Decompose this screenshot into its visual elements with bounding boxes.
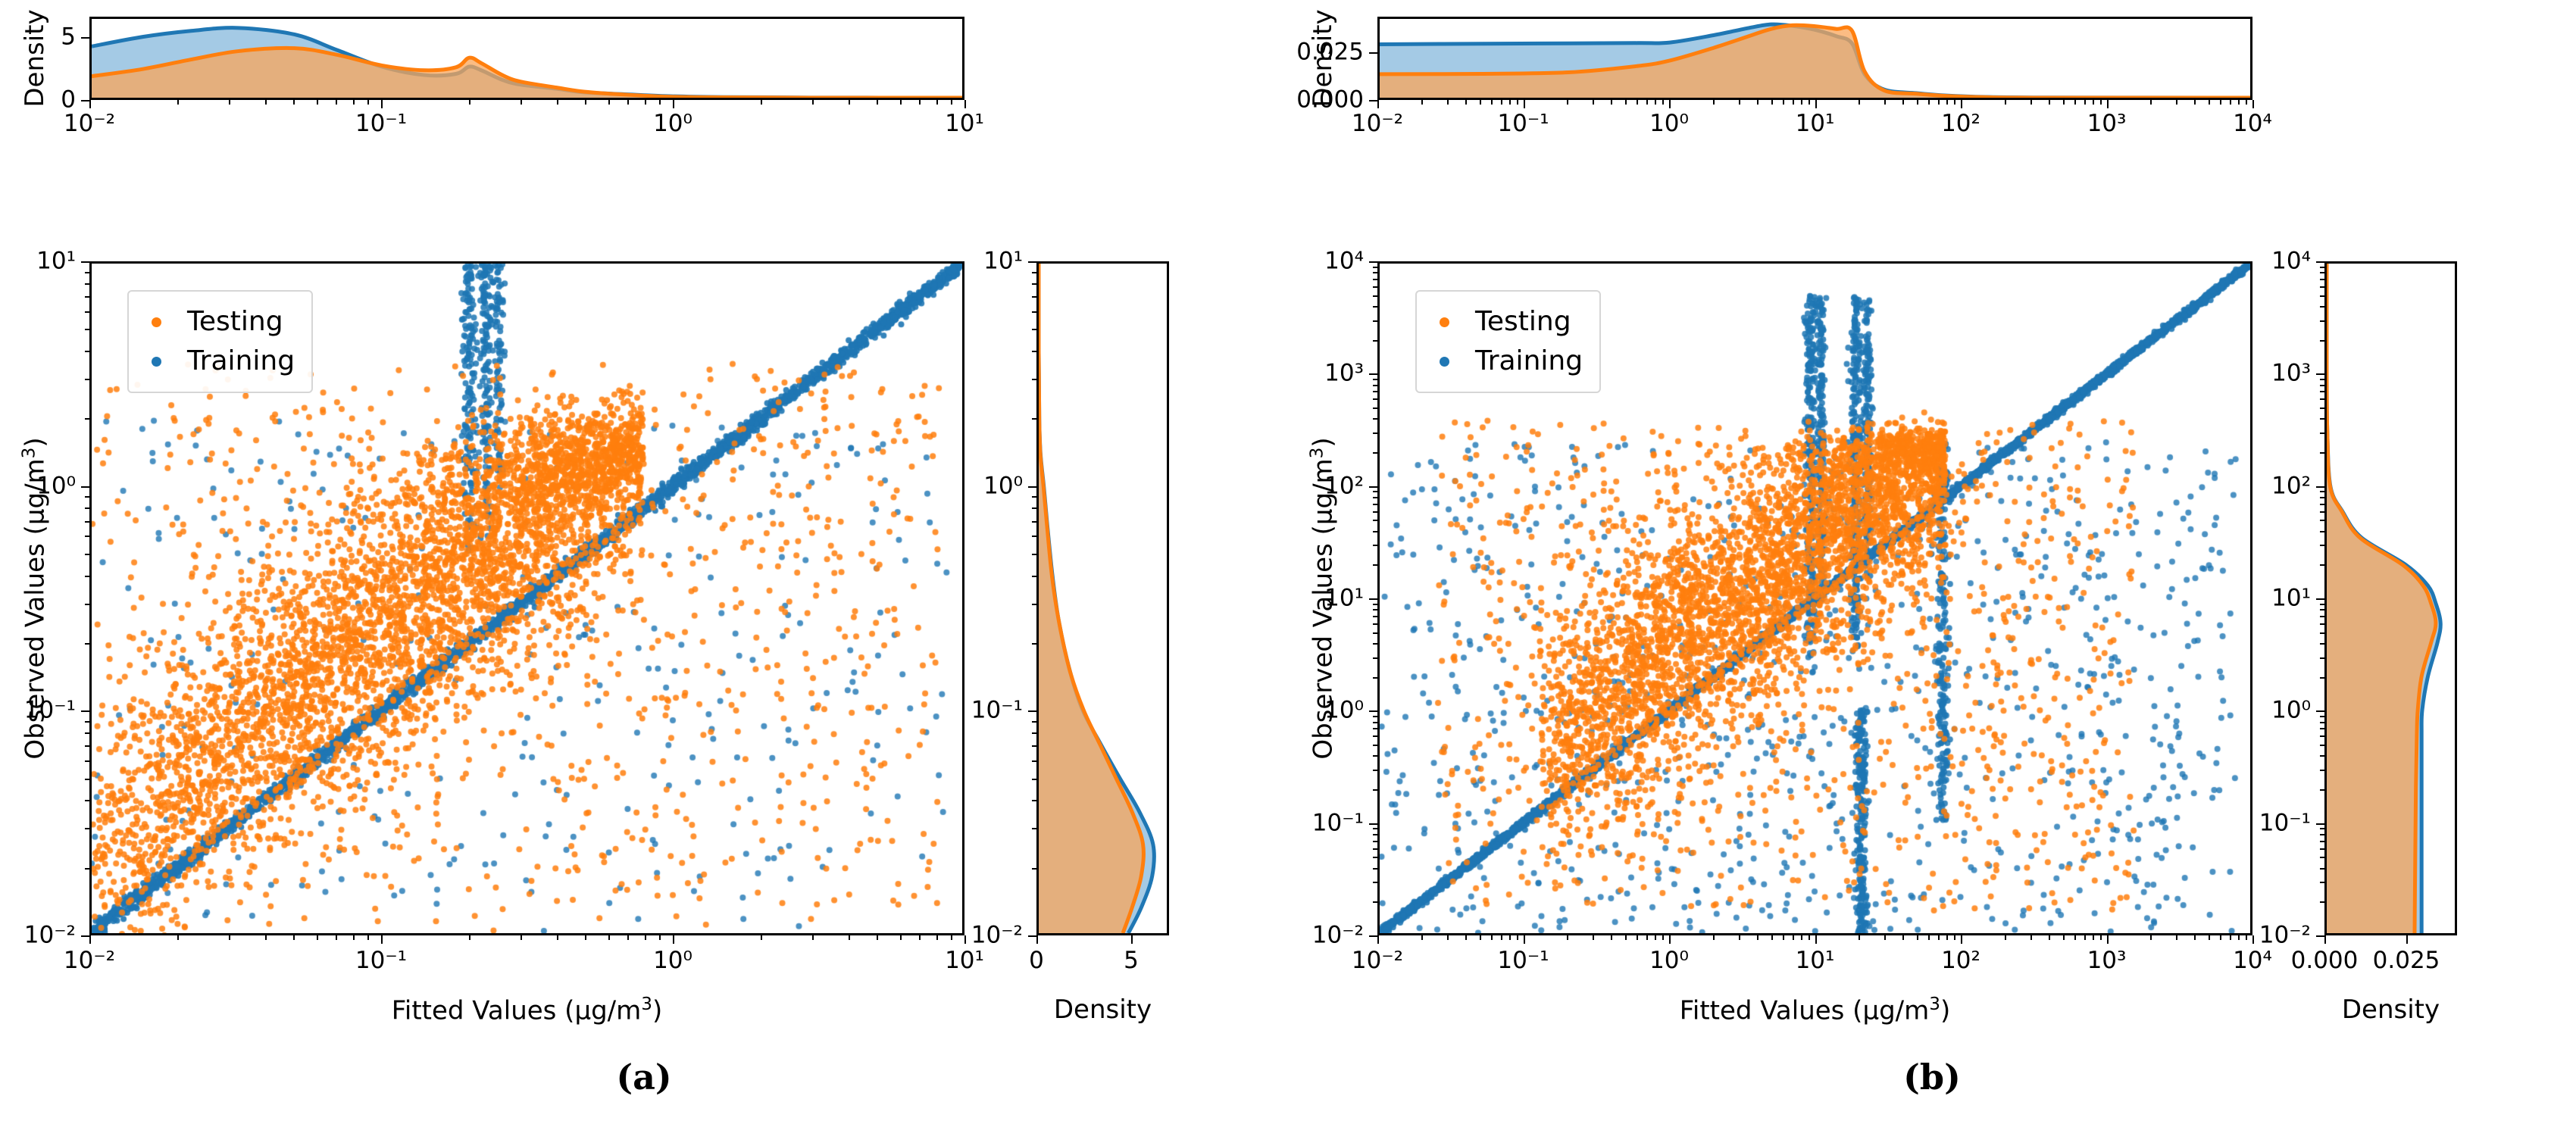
top-x-tick-minor <box>1480 100 1481 105</box>
top-x-tick-minor <box>1517 100 1518 105</box>
x-tick-minor <box>900 935 902 940</box>
top-x-tick-minor <box>293 100 295 105</box>
x-tick-minor <box>521 935 522 940</box>
x-tick-major <box>2252 935 2254 944</box>
top-x-tick-minor <box>2176 100 2177 105</box>
right-y-tick-minor <box>1032 329 1036 330</box>
top-x-tick-minor <box>1771 100 1773 105</box>
right-y-tick-label: 10⁻² <box>971 924 1023 948</box>
top-kde-area-testing <box>92 48 962 98</box>
top-x-tick-minor <box>317 100 318 105</box>
x-tick-label: 10⁻² <box>1352 949 1403 973</box>
right-y-tick-major <box>2316 486 2324 488</box>
x-tick-minor <box>877 935 878 940</box>
x-tick-major <box>1961 935 1962 944</box>
right-y-tick-minor <box>2320 789 2324 791</box>
right-y-tick-minor <box>2320 728 2324 729</box>
y-tick-minor <box>1373 408 1377 409</box>
y-tick-minor <box>85 779 89 780</box>
x-tick-minor <box>1491 935 1493 940</box>
x-tick-minor <box>1713 935 1715 940</box>
right-y-tick-major <box>2316 935 2324 937</box>
top-x-tick-major <box>2107 100 2109 108</box>
right-y-tick-label: 10⁻² <box>2259 924 2311 948</box>
top-x-tick-major <box>1961 100 1962 108</box>
x-tick-minor <box>2100 935 2102 940</box>
top-x-tick-major <box>381 100 383 108</box>
right-x-tick-major <box>2324 935 2326 944</box>
top-x-tick-label: 10³ <box>2087 112 2127 136</box>
right-y-tick-minor <box>2320 504 2324 505</box>
y-tick-minor <box>1373 497 1377 498</box>
top-x-tick-minor <box>521 100 522 105</box>
x-tick-minor <box>1938 935 1940 940</box>
x-tick-minor <box>1611 935 1612 940</box>
y-tick-minor <box>1373 398 1377 400</box>
y-tick-minor <box>1373 520 1377 521</box>
right-kde-svg <box>1039 264 1167 933</box>
right-y-tick-major <box>2316 261 2324 263</box>
right-y-tick-minor <box>2320 520 2324 521</box>
y-tick-label: 10⁻¹ <box>1312 811 1364 835</box>
x-tick-major <box>673 935 674 944</box>
top-x-tick-minor <box>353 100 355 105</box>
right-y-tick-minor <box>1032 828 1036 829</box>
x-tick-label: 10³ <box>2087 949 2127 973</box>
right-y-tick-minor <box>2320 868 2324 870</box>
legend-item-testing[interactable]: Testing <box>1429 302 1583 342</box>
y-tick-minor <box>1373 432 1377 434</box>
x-tick-minor <box>1625 935 1627 940</box>
y-tick-minor <box>1373 716 1377 717</box>
top-x-tick-minor <box>585 100 586 105</box>
x-tick-minor <box>1593 935 1594 940</box>
top-x-tick-label: 10¹ <box>1796 112 1835 136</box>
top-x-tick-minor <box>2093 100 2094 105</box>
top-x-tick-label: 10¹ <box>945 112 984 136</box>
top-x-tick-minor <box>1611 100 1612 105</box>
right-y-tick-label: 10⁴ <box>2271 250 2311 273</box>
x-tick-minor <box>1567 935 1568 940</box>
y-tick-label: 10⁻² <box>24 924 76 948</box>
x-tick-minor <box>1902 935 1904 940</box>
right-y-tick-minor <box>2320 716 2324 717</box>
right-y-tick-minor <box>1032 521 1036 523</box>
top-x-tick-minor <box>1917 100 1918 105</box>
y-tick-minor <box>1373 834 1377 835</box>
top-kde-svg <box>92 19 962 98</box>
top-x-tick-minor <box>1491 100 1493 105</box>
top-x-tick-label: 10⁻² <box>64 112 115 136</box>
y-tick-minor <box>1373 868 1377 870</box>
y-tick-minor <box>85 576 89 577</box>
x-axis-label: Fitted Values (μg/m3) <box>1680 995 1950 1026</box>
top-x-tick-minor <box>1655 100 1656 105</box>
x-tick-minor <box>353 935 355 940</box>
top-x-tick-minor <box>1859 100 1860 105</box>
right-y-tick-label: 10⁻¹ <box>2259 811 2311 835</box>
top-y-tick-major <box>1369 52 1377 54</box>
right-y-tick-minor <box>1032 418 1036 420</box>
y-tick-minor <box>1373 511 1377 513</box>
top-x-tick-minor <box>761 100 762 105</box>
legend-marker-training <box>1440 357 1449 367</box>
y-tick-minor <box>1373 828 1377 829</box>
right-y-tick-minor <box>1032 283 1036 285</box>
right-y-tick-minor <box>2320 677 2324 679</box>
top-x-tick-minor <box>265 100 267 105</box>
top-x-tick-major <box>673 100 674 108</box>
top-x-tick-minor <box>2074 100 2076 105</box>
y-tick-minor <box>85 418 89 420</box>
y-axis-label: Observed Values (μg/m3) <box>19 437 50 759</box>
y-tick-minor <box>1373 545 1377 546</box>
right-y-tick-minor <box>2320 848 2324 850</box>
y-tick-minor <box>85 745 89 747</box>
top-x-tick-major <box>1377 100 1379 108</box>
y-tick-minor <box>85 828 89 829</box>
y-tick-major <box>81 261 89 263</box>
x-tick-minor <box>1928 935 1930 940</box>
x-tick-minor <box>1946 935 1948 940</box>
y-tick-major <box>1369 261 1377 263</box>
y-tick-minor <box>85 496 89 498</box>
x-tick-minor <box>2220 935 2221 940</box>
right-y-tick-minor <box>2320 901 2324 903</box>
right-y-tick-minor <box>1032 507 1036 509</box>
x-tick-minor <box>659 935 661 940</box>
legend-item-training[interactable]: Training <box>1429 342 1583 381</box>
right-y-tick-minor <box>2320 623 2324 625</box>
right-y-tick-minor <box>2320 841 2324 842</box>
x-tick-minor <box>1884 935 1886 940</box>
x-tick-minor <box>951 935 952 940</box>
x-tick-minor <box>1662 935 1664 940</box>
y-tick-minor <box>85 732 89 734</box>
right-x-tick-major <box>2406 935 2408 944</box>
top-x-tick-label: 10⁰ <box>1649 112 1689 136</box>
top-y-tick-label: 0 <box>61 89 76 112</box>
x-tick-minor <box>1783 935 1784 940</box>
top-x-tick-label: 10² <box>1941 112 1980 136</box>
right-y-tick-minor <box>2320 267 2324 268</box>
y-tick-major <box>1369 710 1377 712</box>
right-y-tick-minor <box>1032 745 1036 747</box>
right-y-tick-label: 10¹ <box>2271 587 2311 610</box>
top-x-tick-major <box>2252 100 2254 108</box>
right-density-axis-label: Density <box>2342 995 2440 1025</box>
right-y-tick-minor <box>1032 779 1036 780</box>
x-tick-minor <box>2150 935 2152 940</box>
top-y-tick-label: 5 <box>61 25 76 48</box>
top-x-tick-minor <box>1625 100 1627 105</box>
y-tick-minor <box>1373 267 1377 268</box>
x-tick-minor <box>1509 935 1511 940</box>
y-tick-minor <box>1373 504 1377 505</box>
x-tick-minor <box>1517 935 1518 940</box>
right-y-tick-minor <box>1032 311 1036 313</box>
right-y-tick-minor <box>2320 385 2324 386</box>
y-tick-minor <box>1373 857 1377 858</box>
x-tick-label: 10⁰ <box>653 949 692 973</box>
legend-box-a: TestingTraining <box>127 290 313 393</box>
y-tick-minor <box>1373 745 1377 746</box>
right-y-tick-minor <box>2320 755 2324 757</box>
top-x-tick-minor <box>1793 100 1794 105</box>
y-tick-minor <box>1373 632 1377 634</box>
top-y-tick-major <box>81 37 89 39</box>
x-tick-minor <box>1801 935 1802 940</box>
top-x-tick-minor <box>1593 100 1594 105</box>
top-x-tick-label: 10⁻¹ <box>1497 112 1549 136</box>
right-y-tick-minor <box>2320 643 2324 645</box>
x-tick-major <box>1669 935 1671 944</box>
y-tick-minor <box>85 643 89 645</box>
x-tick-minor <box>645 935 646 940</box>
top-x-tick-minor <box>177 100 179 105</box>
x-tick-label: 10¹ <box>1796 949 1835 973</box>
right-y-tick-minor <box>1032 379 1036 380</box>
x-tick-minor <box>1917 935 1918 940</box>
x-tick-minor <box>1757 935 1758 940</box>
x-tick-minor <box>1739 935 1740 940</box>
panel-a: 10⁻²10⁻²10⁻¹10⁻¹10⁰10⁰10¹10¹Fitted Value… <box>0 0 1288 1146</box>
right-marginal-axes-b <box>2324 261 2457 935</box>
right-y-tick-minor <box>2320 545 2324 546</box>
top-x-tick-minor <box>2150 100 2152 105</box>
right-y-tick-minor <box>2320 379 2324 380</box>
right-y-tick-major <box>1028 261 1036 263</box>
right-y-tick-minor <box>1032 296 1036 298</box>
x-tick-minor <box>336 935 337 940</box>
right-y-tick-minor <box>2320 657 2324 659</box>
x-tick-minor <box>2049 935 2050 940</box>
top-x-tick-minor <box>1884 100 1886 105</box>
top-x-tick-minor <box>1637 100 1638 105</box>
top-x-tick-minor <box>1567 100 1568 105</box>
legend-item-testing[interactable]: Testing <box>141 302 295 342</box>
y-tick-minor <box>85 554 89 555</box>
right-density-axis-label: Density <box>1054 995 1152 1025</box>
x-tick-minor <box>936 935 938 940</box>
right-y-tick-minor <box>2320 564 2324 566</box>
y-tick-minor <box>1373 320 1377 322</box>
x-tick-minor <box>1793 935 1794 940</box>
right-y-tick-minor <box>2320 722 2324 723</box>
right-y-tick-minor <box>1032 272 1036 273</box>
x-tick-label: 10⁻² <box>64 949 115 973</box>
x-tick-minor <box>177 935 179 940</box>
right-y-tick-minor <box>2320 391 2324 392</box>
top-x-tick-minor <box>951 100 952 105</box>
top-x-tick-label: 10⁻¹ <box>355 112 407 136</box>
y-tick-major <box>1369 373 1377 375</box>
x-tick-major <box>89 935 91 944</box>
top-x-tick-minor <box>1809 100 1810 105</box>
x-tick-minor <box>1954 935 1955 940</box>
top-x-tick-minor <box>1928 100 1930 105</box>
top-x-tick-minor <box>2220 100 2221 105</box>
top-x-tick-label: 10⁴ <box>2233 112 2272 136</box>
top-x-tick-major <box>89 100 91 108</box>
right-kde-svg <box>2327 264 2455 933</box>
legend-label: Training <box>1475 348 1583 375</box>
y-axis-label: Observed Values (μg/m3) <box>1307 437 1338 759</box>
top-x-tick-minor <box>1447 100 1449 105</box>
y-tick-minor <box>85 604 89 605</box>
x-tick-minor <box>1771 935 1773 940</box>
top-x-tick-minor <box>2194 100 2196 105</box>
y-tick-minor <box>85 379 89 380</box>
right-y-tick-minor <box>2320 834 2324 835</box>
top-density-axis-label: Density <box>20 9 50 107</box>
top-x-tick-minor <box>2230 100 2231 105</box>
x-tick-minor <box>585 935 586 940</box>
right-y-tick-minor <box>1032 732 1036 734</box>
y-tick-minor <box>1373 755 1377 757</box>
y-tick-minor <box>1373 391 1377 392</box>
x-tick-minor <box>1501 935 1502 940</box>
top-x-tick-minor <box>1801 100 1802 105</box>
right-y-tick-minor <box>2320 745 2324 746</box>
x-tick-minor <box>1859 935 1860 940</box>
panel-label-a: (a) <box>616 1057 671 1098</box>
legend-item-training[interactable]: Training <box>141 342 295 381</box>
top-x-tick-minor <box>608 100 610 105</box>
x-tick-minor <box>1809 935 1810 940</box>
x-tick-minor <box>849 935 850 940</box>
right-y-tick-minor <box>2320 320 2324 322</box>
top-x-tick-minor <box>645 100 646 105</box>
right-y-tick-minor <box>1032 800 1036 801</box>
y-tick-minor <box>85 507 89 509</box>
x-tick-major <box>381 935 383 944</box>
x-tick-minor <box>919 935 921 940</box>
x-axis-label: Fitted Values (μg/m3) <box>392 995 662 1026</box>
top-x-tick-minor <box>2084 100 2086 105</box>
y-tick-minor <box>1373 722 1377 723</box>
y-tick-minor <box>85 272 89 273</box>
y-tick-minor <box>1373 286 1377 288</box>
top-y-tick-major <box>81 100 89 101</box>
right-y-tick-minor <box>2320 828 2324 829</box>
top-x-tick-minor <box>1902 100 1904 105</box>
top-x-tick-label: 10⁻² <box>1352 112 1403 136</box>
y-tick-minor <box>1373 385 1377 386</box>
top-x-tick-minor <box>919 100 921 105</box>
x-tick-minor <box>469 935 470 940</box>
right-y-tick-minor <box>1032 536 1036 537</box>
x-tick-minor <box>2246 935 2247 940</box>
right-y-tick-minor <box>2320 882 2324 883</box>
right-y-tick-minor <box>2320 418 2324 420</box>
x-tick-minor <box>2084 935 2086 940</box>
y-tick-minor <box>85 521 89 523</box>
right-y-tick-label: 10³ <box>2271 362 2311 386</box>
right-y-tick-minor <box>1032 554 1036 555</box>
figure-root: 10⁻²10⁻²10⁻¹10⁻¹10⁰10⁰10¹10¹Fitted Value… <box>0 0 2576 1146</box>
right-y-tick-minor <box>2320 286 2324 288</box>
y-tick-minor <box>1373 735 1377 737</box>
y-tick-label: 10³ <box>1324 362 1364 386</box>
y-tick-minor <box>1373 841 1377 842</box>
y-tick-major <box>81 935 89 937</box>
top-x-tick-minor <box>1421 100 1423 105</box>
top-y-tick-major <box>1369 100 1377 101</box>
top-x-tick-major <box>1524 100 1525 108</box>
x-tick-label: 10¹ <box>945 949 984 973</box>
x-tick-minor <box>1637 935 1638 940</box>
x-tick-label: 10⁻¹ <box>355 949 407 973</box>
right-y-tick-minor <box>2320 604 2324 605</box>
x-tick-minor <box>2093 935 2094 940</box>
right-y-tick-minor <box>1032 643 1036 645</box>
y-tick-minor <box>85 760 89 762</box>
legend-marker-training <box>152 357 161 367</box>
y-tick-minor <box>85 351 89 352</box>
top-x-tick-minor <box>659 100 661 105</box>
x-tick-minor <box>2209 935 2210 940</box>
top-x-tick-minor <box>1757 100 1758 105</box>
right-marginal-axes-a <box>1036 261 1169 935</box>
y-tick-minor <box>1373 609 1377 610</box>
top-x-tick-minor <box>1662 100 1664 105</box>
y-tick-minor <box>1373 491 1377 492</box>
top-x-tick-major <box>1815 100 1817 108</box>
right-y-tick-minor <box>1032 868 1036 870</box>
y-tick-major <box>81 486 89 488</box>
top-marginal-axes-a <box>89 17 964 100</box>
y-tick-minor <box>1373 770 1377 771</box>
y-tick-minor <box>85 721 89 723</box>
y-tick-minor <box>85 311 89 313</box>
y-tick-minor <box>1373 452 1377 454</box>
x-tick-major <box>1815 935 1817 944</box>
y-tick-minor <box>85 329 89 330</box>
x-tick-minor <box>557 935 558 940</box>
x-tick-minor <box>1421 935 1423 940</box>
y-tick-label: 10⁻² <box>1312 924 1364 948</box>
right-y-tick-minor <box>2320 452 2324 454</box>
right-x-tick-label: 5 <box>1124 949 1139 973</box>
top-x-tick-major <box>964 100 966 108</box>
x-tick-minor <box>1480 935 1481 940</box>
top-density-axis-label: Density <box>1308 9 1338 107</box>
right-x-tick-major <box>1131 935 1133 944</box>
x-tick-minor <box>761 935 762 940</box>
top-x-tick-minor <box>1646 100 1648 105</box>
right-y-tick-minor <box>2320 491 2324 492</box>
x-tick-minor <box>1465 935 1467 940</box>
y-tick-minor <box>1373 643 1377 645</box>
right-y-tick-minor <box>1032 760 1036 762</box>
right-y-tick-label: 10⁰ <box>983 474 1023 498</box>
y-tick-label: 10⁴ <box>1324 250 1364 273</box>
legend-label: Training <box>187 348 295 375</box>
y-tick-minor <box>85 800 89 801</box>
top-x-tick-minor <box>2209 100 2210 105</box>
legend-marker-testing <box>1440 317 1449 327</box>
right-y-tick-label: 10¹ <box>983 250 1023 273</box>
y-tick-minor <box>1373 616 1377 617</box>
y-tick-label: 10¹ <box>36 250 76 273</box>
y-tick-minor <box>1373 901 1377 903</box>
y-tick-minor <box>1373 848 1377 850</box>
y-tick-minor <box>1373 272 1377 273</box>
right-y-tick-minor <box>1032 351 1036 352</box>
right-y-tick-major <box>2316 710 2324 712</box>
y-tick-minor <box>1373 789 1377 791</box>
